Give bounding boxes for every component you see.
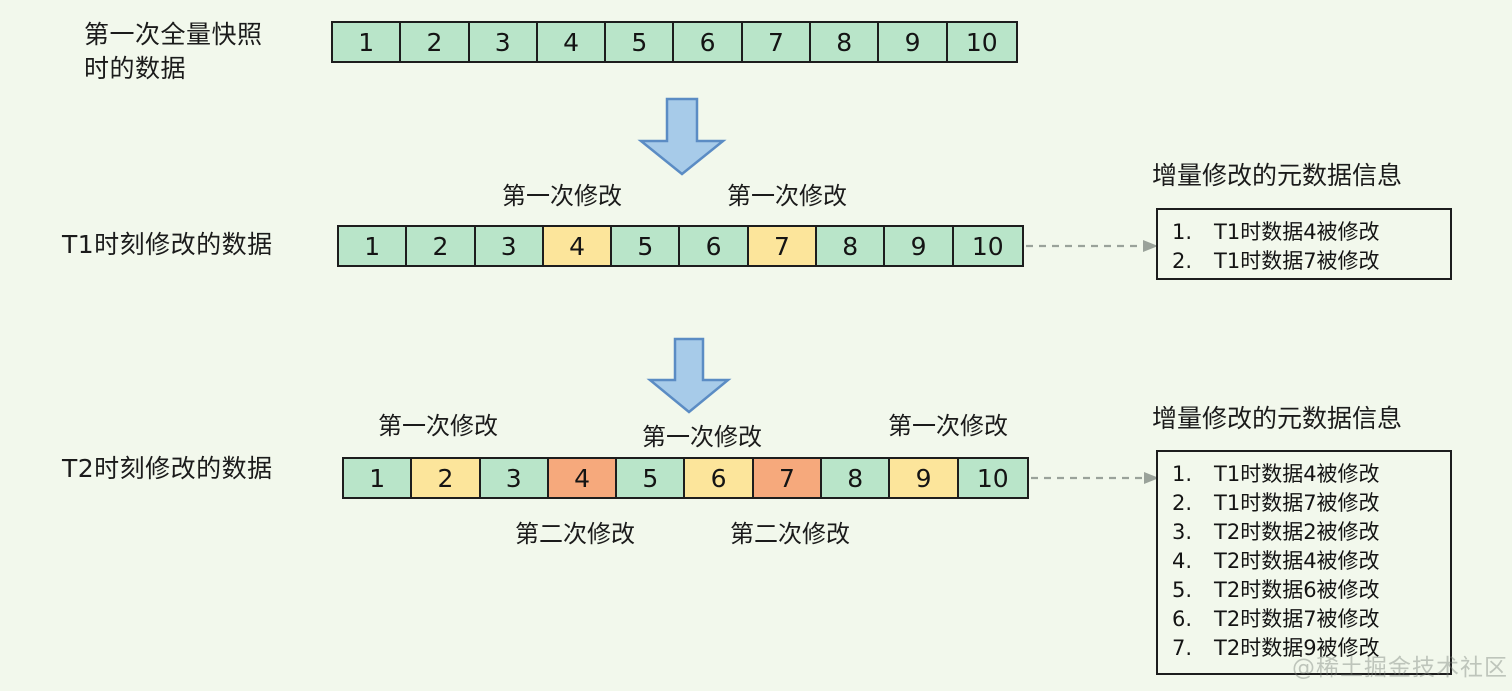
data-cell-value: 6: [706, 232, 722, 261]
data-cell-value: 5: [637, 232, 653, 261]
metadata-list-t2: 1.T1时数据4被修改2.T1时数据7被修改3.T2时数据2被修改4.T2时数据…: [1168, 460, 1440, 663]
data-cell-value: 8: [836, 28, 852, 57]
data-cell-t1-6: 6: [680, 227, 748, 265]
data-cell-value: 4: [569, 232, 585, 261]
data-cell-snapshot-10: 10: [948, 23, 1016, 61]
data-cell-t1-2: 2: [407, 227, 475, 265]
data-cell-t1-1: 1: [339, 227, 407, 265]
data-cell-value: 9: [905, 28, 921, 57]
data-cell-snapshot-7: 7: [743, 23, 811, 61]
data-cell-value: 4: [574, 464, 590, 493]
data-cell-value: 2: [437, 464, 453, 493]
data-cell-t2-4: 4: [549, 459, 617, 497]
data-cell-value: 4: [563, 28, 579, 57]
watermark: @稀土掘金技术社区: [1292, 648, 1508, 682]
data-cell-value: 3: [495, 28, 511, 57]
metadata-item-number: 2.: [1168, 247, 1214, 276]
data-cell-snapshot-2: 2: [401, 23, 469, 61]
data-cell-value: 1: [369, 464, 385, 493]
transition-arrow-snapshot-to-t1: [636, 97, 728, 181]
data-cell-t1-9: 9: [885, 227, 953, 265]
row-caption-snapshot: 第一次全量快照 时的数据: [84, 18, 334, 86]
data-cell-value: 9: [911, 232, 927, 261]
data-cell-value: 10: [977, 464, 1009, 493]
data-cell-t1-4: 4: [544, 227, 612, 265]
metadata-item-number: 1.: [1168, 218, 1214, 247]
metadata-list-item: 5.T2时数据6被修改: [1168, 576, 1440, 605]
data-strip-snapshot: 12345678910: [331, 21, 1018, 63]
data-cell-t2-9: 9: [890, 459, 958, 497]
metadata-list-item: 1.T1时数据4被修改: [1168, 218, 1440, 247]
data-cell-t2-10: 10: [959, 459, 1027, 497]
metadata-item-number: 5.: [1168, 576, 1214, 605]
metadata-list-item: 3.T2时数据2被修改: [1168, 518, 1440, 547]
data-cell-t1-10: 10: [954, 227, 1022, 265]
data-cell-value: 5: [631, 28, 647, 57]
data-cell-value: 3: [506, 464, 522, 493]
metadata-item-text: T2时数据6被修改: [1214, 576, 1440, 605]
annotation-t2-below-0: 第二次修改: [515, 519, 635, 549]
data-cell-value: 6: [711, 464, 727, 493]
data-cell-value: 7: [768, 28, 784, 57]
data-cell-snapshot-3: 3: [470, 23, 538, 61]
annotation-t2-below-1: 第二次修改: [730, 519, 850, 549]
data-cell-t1-8: 8: [817, 227, 885, 265]
metadata-title-t2: 增量修改的元数据信息: [1152, 403, 1402, 435]
data-cell-value: 10: [972, 232, 1004, 261]
metadata-item-text: T1时数据4被修改: [1214, 218, 1440, 247]
annotation-t2-above-0: 第一次修改: [378, 411, 498, 441]
metadata-panel-t2: 1.T1时数据4被修改2.T1时数据7被修改3.T2时数据2被修改4.T2时数据…: [1156, 450, 1452, 675]
metadata-item-text: T2时数据7被修改: [1214, 605, 1440, 634]
data-cell-value: 1: [358, 28, 374, 57]
data-cell-snapshot-5: 5: [606, 23, 674, 61]
data-cell-snapshot-9: 9: [879, 23, 947, 61]
diagram-canvas: 第一次全量快照 时的数据 12345678910 第一次修改 第一次修改 T1时…: [0, 0, 1512, 691]
data-cell-value: 10: [966, 28, 998, 57]
data-cell-t1-3: 3: [476, 227, 544, 265]
metadata-item-text: T2时数据2被修改: [1214, 518, 1440, 547]
metadata-list-item: 6.T2时数据7被修改: [1168, 605, 1440, 634]
data-cell-snapshot-4: 4: [538, 23, 606, 61]
data-cell-snapshot-6: 6: [674, 23, 742, 61]
metadata-list-item: 2.T1时数据7被修改: [1168, 489, 1440, 518]
data-cell-value: 8: [842, 232, 858, 261]
data-cell-t2-1: 1: [344, 459, 412, 497]
metadata-item-number: 7.: [1168, 634, 1214, 663]
data-cell-snapshot-1: 1: [333, 23, 401, 61]
data-cell-value: 2: [432, 232, 448, 261]
annotation-t1-above-1: 第一次修改: [727, 181, 847, 211]
data-cell-t2-2: 2: [412, 459, 480, 497]
data-cell-t2-7: 7: [754, 459, 822, 497]
transition-arrow-t1-to-t2: [646, 337, 732, 419]
metadata-item-number: 1.: [1168, 460, 1214, 489]
metadata-item-number: 3.: [1168, 518, 1214, 547]
data-cell-value: 6: [700, 28, 716, 57]
data-cell-value: 8: [847, 464, 863, 493]
metadata-item-number: 2.: [1168, 489, 1214, 518]
data-cell-t1-7: 7: [749, 227, 817, 265]
annotation-t2-above-1: 第一次修改: [642, 422, 762, 452]
metadata-item-number: 4.: [1168, 547, 1214, 576]
metadata-item-text: T2时数据4被修改: [1214, 547, 1440, 576]
metadata-list-t1: 1.T1时数据4被修改2.T1时数据7被修改: [1168, 218, 1440, 276]
data-cell-snapshot-8: 8: [811, 23, 879, 61]
data-cell-t2-3: 3: [481, 459, 549, 497]
metadata-panel-t1: 1.T1时数据4被修改2.T1时数据7被修改: [1156, 208, 1452, 280]
metadata-list-item: 2.T1时数据7被修改: [1168, 247, 1440, 276]
data-cell-t2-6: 6: [685, 459, 753, 497]
metadata-list-item: 1.T1时数据4被修改: [1168, 460, 1440, 489]
data-cell-value: 1: [364, 232, 380, 261]
metadata-list-item: 4.T2时数据4被修改: [1168, 547, 1440, 576]
annotation-t2-above-2: 第一次修改: [888, 411, 1008, 441]
data-cell-value: 7: [779, 464, 795, 493]
data-cell-value: 2: [426, 28, 442, 57]
data-cell-t1-5: 5: [612, 227, 680, 265]
metadata-item-text: T1时数据7被修改: [1214, 247, 1440, 276]
row-caption-t1: T1时刻修改的数据: [62, 228, 273, 262]
data-cell-value: 7: [774, 232, 790, 261]
metadata-title-t1: 增量修改的元数据信息: [1152, 160, 1402, 192]
data-cell-value: 5: [642, 464, 658, 493]
data-cell-t2-8: 8: [822, 459, 890, 497]
data-cell-value: 9: [916, 464, 932, 493]
connector-t1-to-metadata: [1026, 236, 1160, 260]
metadata-item-text: T1时数据4被修改: [1214, 460, 1440, 489]
row-caption-t2: T2时刻修改的数据: [62, 452, 273, 486]
connector-t2-to-metadata: [1031, 468, 1161, 492]
metadata-item-text: T1时数据7被修改: [1214, 489, 1440, 518]
data-cell-value: 3: [501, 232, 517, 261]
annotation-t1-above-0: 第一次修改: [502, 181, 622, 211]
data-cell-t2-5: 5: [617, 459, 685, 497]
data-strip-t2: 12345678910: [342, 457, 1029, 499]
metadata-item-number: 6.: [1168, 605, 1214, 634]
data-strip-t1: 12345678910: [337, 225, 1024, 267]
